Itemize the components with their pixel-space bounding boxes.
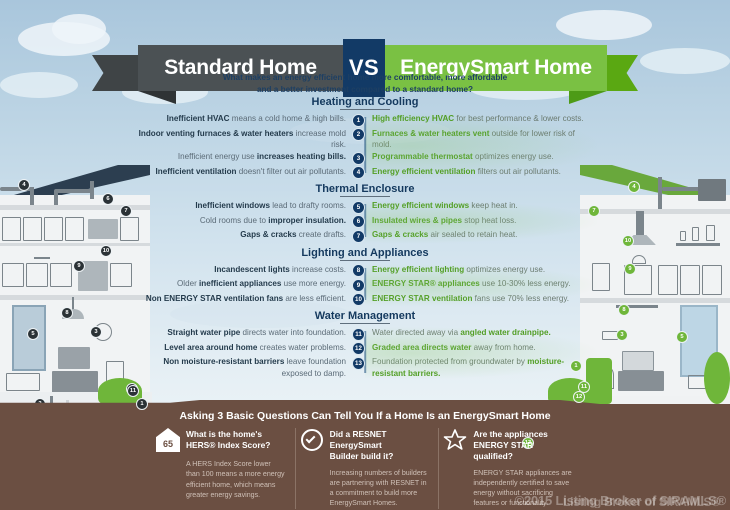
- item-number-badge: 13: [352, 357, 365, 370]
- floor-divider: [0, 295, 150, 300]
- question-title: Did a RESNET EnergySmartBuilder build it…: [330, 428, 430, 463]
- item-emphasis: Energy efficient windows: [372, 201, 469, 210]
- item-emphasis: Gaps & cracks: [240, 230, 296, 239]
- section-title: Water Management: [135, 310, 595, 324]
- item-text: Foundation protected from groundwater by: [372, 357, 527, 366]
- item-text: means a cold home & high bills.: [229, 114, 346, 123]
- item-emphasis: ENERGY STAR ventilation: [372, 294, 472, 303]
- bush-decoration: [704, 352, 730, 404]
- item-emphasis: High efficiency HVAC: [372, 114, 454, 123]
- standard-home-item: Non moisture-resistant barriers leave fo…: [135, 356, 352, 379]
- comparison-rows: Inefficient HVAC means a cold home & hig…: [135, 113, 595, 179]
- standard-home-item: Inefficient energy use increases heating…: [135, 151, 352, 162]
- comparison-panel: Heating and CoolingInefficient HVAC mean…: [135, 96, 595, 383]
- standard-home-item: Inefficient ventilation doesn't filter o…: [135, 166, 352, 177]
- item-emphasis: Energy efficient lighting: [372, 265, 464, 274]
- standard-home-item: Inefficient HVAC means a cold home & hig…: [135, 113, 352, 124]
- house-score-icon: 65: [156, 428, 180, 454]
- standard-home-item: Non ENERGY STAR ventilation fans are les…: [135, 293, 352, 304]
- hers-score-value: 65: [163, 439, 173, 452]
- item-number-badge: 1: [352, 114, 365, 127]
- house-badge-4: 4: [18, 179, 30, 191]
- bush-decoration: [586, 358, 612, 404]
- star-icon: [443, 428, 467, 454]
- house-badge-3: 3: [616, 329, 628, 341]
- item-number-badge: 10: [352, 293, 365, 306]
- energysmart-home-item: Gaps & cracks air sealed to retain heat.: [365, 229, 591, 240]
- item-text: increase costs.: [290, 265, 346, 274]
- standard-home-item: Gaps & cracks create drafts.: [135, 229, 352, 240]
- shelf: [676, 243, 720, 246]
- radiator: [6, 373, 40, 391]
- standard-house-illustration: 4 6 7 10 9 8 3 5 11: [0, 165, 150, 415]
- section-title: Thermal Enclosure: [135, 183, 595, 197]
- item-emphasis: Straight water pipe: [167, 328, 240, 337]
- standard-home-item: Inefficient windows lead to drafty rooms…: [135, 200, 352, 211]
- check-circle-icon: [300, 428, 324, 454]
- energysmart-home-item: Energy efficient lighting optimizes ener…: [365, 264, 591, 275]
- energysmart-home-item: Furnaces & water heaters vent outside fo…: [365, 128, 591, 151]
- kitchen-upper-cabinet: [44, 217, 63, 241]
- item-text: for best performance & lower costs.: [454, 114, 584, 123]
- energysmart-home-item: ENERGY STAR ventilation fans use 70% les…: [365, 293, 591, 304]
- kitchen-upper-cabinet: [23, 217, 42, 241]
- comparison-section: Lighting and AppliancesIncandescent ligh…: [135, 247, 595, 307]
- item-emphasis: Gaps & cracks: [372, 230, 428, 239]
- item-emphasis: Inefficient HVAC: [167, 114, 230, 123]
- standard-home-item: Incandescent lights increase costs.: [135, 264, 352, 275]
- counter-top: [0, 243, 150, 246]
- energysmart-home-item: Energy efficient windows keep heat in.: [365, 200, 591, 211]
- energysmart-home-item: Water directed away via angled water dra…: [365, 327, 591, 338]
- item-number-badge: 12: [352, 342, 365, 355]
- item-emphasis: angled water drainpipe.: [460, 328, 550, 337]
- house-badge-9: 9: [73, 260, 85, 272]
- hvac-unit: [698, 179, 726, 201]
- item-emphasis: Programmable thermostat: [372, 152, 473, 161]
- question-title-line-2: Builder build it?: [330, 451, 430, 462]
- house-shape: 65: [156, 428, 180, 452]
- energysmart-home-item: ENERGY STAR® appliances use 10-30% less …: [365, 278, 591, 289]
- house-badge-10: 10: [622, 235, 634, 247]
- comparison-rows: Inefficient windows lead to drafty rooms…: [135, 200, 595, 243]
- energysmart-home-item: Insulated wires & pipes stop heat loss.: [365, 215, 591, 226]
- floor-divider: [580, 209, 730, 214]
- television: [622, 351, 654, 371]
- house-badge-9: 9: [624, 263, 636, 275]
- item-emphasis: Non ENERGY STAR ventilation fans: [146, 294, 283, 303]
- watermark: Listing Broker of SIRAMLS® ©2015 Listing…: [426, 493, 726, 508]
- standard-home-item: Cold rooms due to improper insulation.: [135, 215, 352, 226]
- energysmart-home-item: High efficiency HVAC for best performanc…: [365, 113, 591, 124]
- item-emphasis: increases heating bills.: [257, 152, 346, 161]
- house-badge-1-right: 1: [570, 360, 582, 372]
- comparison-section: Water ManagementStraight water pipe dire…: [135, 310, 595, 379]
- question-title-line-1: What is the home's: [186, 429, 270, 440]
- kitchen-lower-cabinet: [680, 265, 700, 295]
- floor-divider: [580, 298, 730, 303]
- item-text: away from home.: [471, 343, 535, 352]
- item-text: Water directed away via: [372, 328, 460, 337]
- item-emphasis: Energy efficient ventilation: [372, 167, 475, 176]
- item-text: create drafts.: [297, 230, 346, 239]
- kitchen-lower-cabinet: [2, 263, 24, 287]
- question-title-line-2: ENERGY STAR qualified?: [473, 440, 573, 462]
- question-header: Are the appliancesENERGY STAR qualified?: [443, 428, 573, 463]
- item-number-badge: 5: [352, 201, 365, 214]
- plant-decor: [706, 225, 715, 241]
- item-number-badge: 3: [352, 152, 365, 165]
- house-badge-1-left: 1: [136, 398, 148, 410]
- kitchen-upper-cabinet: [65, 217, 84, 241]
- item-number-badge: 4: [352, 166, 365, 179]
- item-text: stop heat loss.: [462, 216, 516, 225]
- question-title-line-2: HERS® Index Score?: [186, 440, 270, 451]
- item-text: filters out air pollutants.: [475, 167, 560, 176]
- item-text: doesn't filter out air pollutants.: [236, 167, 346, 176]
- kitchen-lower-cabinet: [50, 263, 72, 287]
- standard-home-item: Level area around home creates water pro…: [135, 342, 352, 353]
- section-title: Heating and Cooling: [135, 96, 595, 110]
- item-number-badge: 9: [352, 279, 365, 292]
- comparison-rows: Incandescent lights increase costs.8Ener…: [135, 264, 595, 307]
- item-emphasis: Incandescent lights: [214, 265, 290, 274]
- vent-pipe: [658, 177, 662, 211]
- item-emphasis: Insulated wires & pipes: [372, 216, 462, 225]
- energysmart-home-item: Programmable thermostat optimizes energy…: [365, 151, 591, 162]
- vent-pipe: [54, 189, 94, 193]
- item-text: lead to drafty rooms.: [270, 201, 346, 210]
- house-badge-3: 3: [90, 326, 102, 338]
- item-emphasis: Inefficient windows: [195, 201, 270, 210]
- house-badge-10: 10: [100, 245, 112, 257]
- energysmart-home-item: Energy efficient ventilation filters out…: [365, 166, 591, 177]
- energysmart-home-item: Graded area directs water away from home…: [365, 342, 591, 353]
- standard-home-item: Indoor venting furnaces & water heaters …: [135, 128, 352, 151]
- tv-stand: [52, 371, 98, 393]
- house-badge-5: 5: [676, 331, 688, 343]
- pot-on-stove: [632, 255, 646, 264]
- house-badge-11-left: 11: [127, 385, 139, 397]
- item-text: creates water problems.: [257, 343, 346, 352]
- kitchen-lower-cabinet: [26, 263, 48, 287]
- item-text: leave foundation exposed to damp.: [282, 357, 346, 377]
- standard-home-item: Older inefficient appliances use more en…: [135, 278, 352, 289]
- comparison-section: Heating and CoolingInefficient HVAC mean…: [135, 96, 595, 179]
- item-emphasis: Level area around home: [164, 343, 257, 352]
- question-title-line-1: Are the appliances: [473, 429, 573, 440]
- kitchen-lower-cabinet: [658, 265, 678, 295]
- item-text: Older: [177, 279, 199, 288]
- item-emphasis: Inefficient ventilation: [156, 167, 237, 176]
- item-number-badge: 11: [352, 328, 365, 341]
- item-text: increase mold risk.: [293, 129, 346, 149]
- subtitle-line-2: and a better investment compared to a st…: [0, 84, 730, 96]
- item-text: air sealed to retain heat.: [428, 230, 517, 239]
- vent-pipe: [662, 187, 700, 191]
- sink-faucet: [34, 257, 50, 259]
- header-subtitle: What makes an energy efficient home more…: [0, 72, 730, 96]
- item-emphasis: ENERGY STAR® appliances: [372, 279, 480, 288]
- item-emphasis: improper insulation.: [268, 216, 346, 225]
- question-title: What is the home'sHERS® Index Score?: [186, 428, 270, 451]
- badge-spine: [364, 117, 366, 173]
- subtitle-line-1: What makes an energy efficient home more…: [0, 72, 730, 84]
- vent-pipe: [90, 181, 94, 199]
- star-glyph: [443, 428, 467, 452]
- item-number-badge: 7: [352, 230, 365, 243]
- range-hood-duct: [636, 211, 644, 235]
- item-emphasis: Graded area directs water: [372, 343, 471, 352]
- house-badge-8: 8: [618, 304, 630, 316]
- kitchen-lower-cabinet: [110, 263, 132, 287]
- kitchen-upper-cabinet: [2, 217, 21, 241]
- item-text: Cold rooms due to: [200, 216, 268, 225]
- item-text: Inefficient energy use: [178, 152, 257, 161]
- watermark-line-1: Listing Broker of SIRAMLS®: [563, 495, 720, 508]
- item-text: directs water into foundation.: [240, 328, 346, 337]
- comparison-rows: Straight water pipe directs water into f…: [135, 327, 595, 379]
- item-text: optimizes energy use.: [473, 152, 554, 161]
- item-number-badge: 8: [352, 264, 365, 277]
- infographic-root: Standard Home EnergySmart Home VS What m…: [0, 0, 730, 510]
- plant-decor: [680, 231, 686, 241]
- item-text: use more energy.: [281, 279, 346, 288]
- item-number-badge: 6: [352, 215, 365, 228]
- section-title: Lighting and Appliances: [135, 247, 595, 261]
- question-body: A HERS Index Score lower than 100 means …: [156, 459, 286, 500]
- house-badge-7: 7: [120, 205, 132, 217]
- comparison-section: Thermal EnclosureInefficient windows lea…: [135, 183, 595, 243]
- badge-spine: [364, 331, 366, 373]
- house-badge-4: 4: [628, 181, 640, 193]
- question-column: Did a RESNET EnergySmartBuilder build it…: [295, 428, 439, 509]
- microwave: [88, 219, 118, 239]
- house-badge-6: 6: [102, 193, 114, 205]
- standard-home-item: Straight water pipe directs water into f…: [135, 327, 352, 338]
- item-emphasis: Furnaces & water heaters vent: [372, 129, 489, 138]
- house-badge-7: 7: [588, 205, 600, 217]
- question-body: Increasing numbers of builders are partn…: [300, 468, 430, 509]
- item-text: fans use 70% less energy.: [472, 294, 569, 303]
- question-header: Did a RESNET EnergySmartBuilder build it…: [300, 428, 430, 463]
- item-emphasis: inefficient appliances: [199, 279, 281, 288]
- vent-pipe: [30, 187, 34, 205]
- tv-stand: [618, 371, 664, 391]
- television: [58, 347, 90, 369]
- kitchen-lower-cabinet: [702, 265, 722, 295]
- house-badge-12: 12: [573, 391, 585, 403]
- house-badge-5: 5: [27, 328, 39, 340]
- item-text: are less efficient.: [283, 294, 346, 303]
- question-header: 65What is the home'sHERS® Index Score?: [156, 428, 286, 454]
- item-text: use 10-30% less energy.: [480, 279, 571, 288]
- question-title: Are the appliancesENERGY STAR qualified?: [473, 428, 573, 463]
- pendant-cord: [72, 297, 74, 309]
- energysmart-home-item: Foundation protected from groundwater by…: [365, 356, 591, 379]
- item-emphasis: Non moisture-resistant barriers: [163, 357, 284, 366]
- house-badge-8: 8: [61, 307, 73, 319]
- item-text: optimizes energy use.: [464, 265, 545, 274]
- plant-decor: [692, 227, 699, 241]
- question-column: 65What is the home'sHERS® Index Score?A …: [152, 428, 295, 509]
- item-text: keep heat in.: [469, 201, 518, 210]
- item-emphasis: Indoor venting furnaces & water heaters: [139, 129, 294, 138]
- bottom-heading: Asking 3 Basic Questions Can Tell You If…: [0, 410, 730, 422]
- question-title-line-1: Did a RESNET EnergySmart: [330, 429, 430, 451]
- item-number-badge: 2: [352, 128, 365, 141]
